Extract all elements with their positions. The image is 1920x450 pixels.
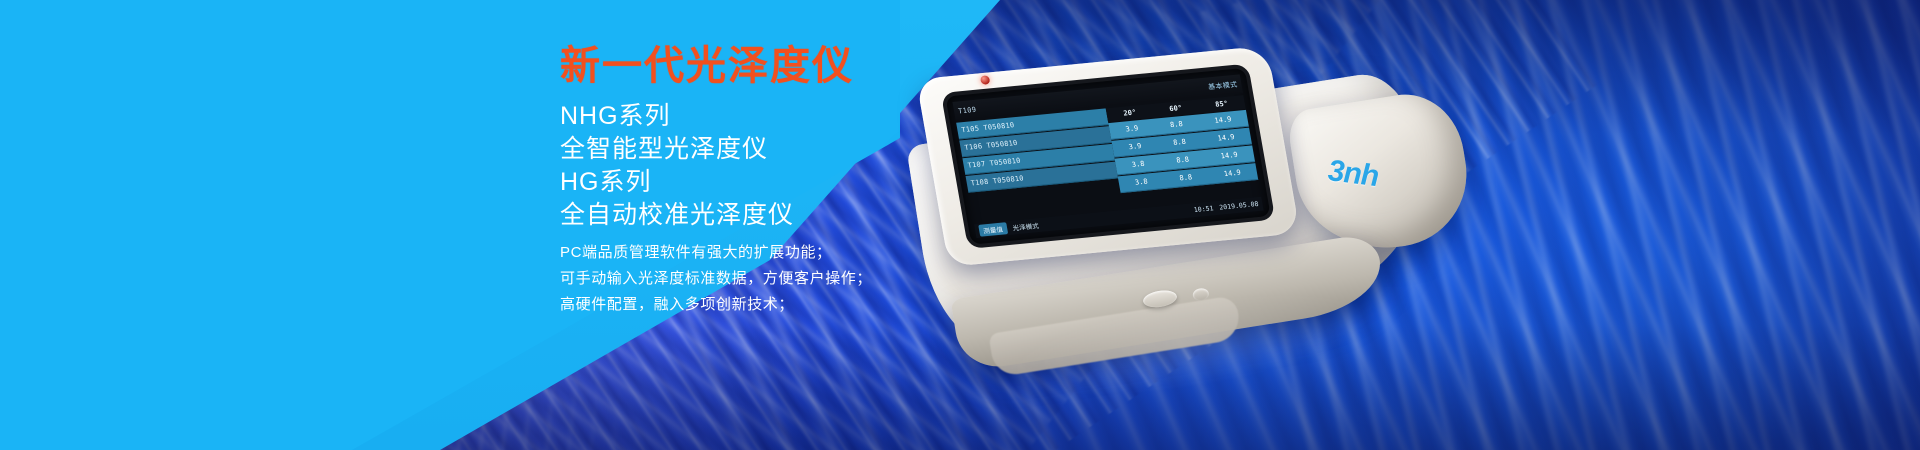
- banner-headline: 新一代光泽度仪: [560, 46, 854, 86]
- banner-subtitle-4: 全自动校准光泽度仪: [560, 199, 794, 232]
- screen-title: T109: [957, 105, 976, 115]
- banner-subtitle-3: HG系列: [560, 166, 794, 199]
- cell-value: 8.8: [1169, 120, 1183, 129]
- screen-measure-button[interactable]: 测量值: [978, 222, 1008, 236]
- brand-logo: 3nh: [1327, 154, 1379, 194]
- banner-feature-2: 可手动输入光泽度标准数据，方便客户操作；: [560, 266, 872, 292]
- column-header-20deg: 20°: [1123, 108, 1137, 117]
- cell-value: 3.9: [1128, 142, 1142, 151]
- screen-datetime: 10:51 2019.05.08: [1193, 200, 1259, 214]
- screen-table-values: 20° 60° 85° 3.9 8.8 14.9 3.9: [1105, 93, 1261, 210]
- cell-value: 8.8: [1176, 156, 1190, 165]
- cell-value: 3.8: [1131, 160, 1145, 169]
- cell-value: 14.9: [1223, 169, 1241, 179]
- banner-subtitle-1: NHG系列: [560, 100, 794, 133]
- banner-feature-3: 高硬件配置，融入多项创新技术；: [560, 292, 872, 318]
- column-header-60deg: 60°: [1169, 104, 1183, 113]
- banner-feature-1: PC端品质管理软件有强大的扩展功能；: [560, 240, 872, 266]
- cell-value: 8.8: [1179, 173, 1193, 182]
- cell-value: 3.8: [1134, 178, 1148, 187]
- screen-date: 2019.05.08: [1219, 200, 1259, 212]
- banner-subtitle-2: 全智能型光泽度仪: [560, 133, 794, 166]
- product-banner: 新一代光泽度仪 NHG系列 全智能型光泽度仪 HG系列 全自动校准光泽度仪 PC…: [0, 0, 1920, 450]
- cell-value: 8.8: [1173, 138, 1187, 147]
- banner-feature-list: PC端品质管理软件有强大的扩展功能； 可手动输入光泽度标准数据，方便客户操作； …: [560, 240, 872, 318]
- screen-footer-right: 光泽模式: [1012, 220, 1040, 232]
- device-body: T109 基本模式 T105 T050810 T106 T050810 T107…: [856, 0, 1461, 410]
- screen-mode-label: 基本模式: [1207, 79, 1238, 92]
- cell-value: 14.9: [1217, 133, 1235, 143]
- screen-table-labels: T105 T050810 T106 T050810 T107 T050810 T…: [956, 106, 1124, 224]
- banner-subtitle-list: NHG系列 全智能型光泽度仪 HG系列 全自动校准光泽度仪: [560, 100, 794, 232]
- device-screen[interactable]: T109 基本模式 T105 T050810 T106 T050810 T107…: [945, 68, 1270, 245]
- screen-content: T109 基本模式 T105 T050810 T106 T050810 T107…: [952, 74, 1263, 238]
- screen-time: 10:51: [1193, 204, 1214, 214]
- cell-value: 14.9: [1214, 115, 1232, 125]
- cell-value: 3.9: [1125, 124, 1139, 133]
- gloss-meter-device: T109 基本模式 T105 T050810 T106 T050810 T107…: [860, 10, 1500, 410]
- cell-value: 14.9: [1220, 151, 1238, 161]
- column-header-85deg: 85°: [1215, 100, 1229, 109]
